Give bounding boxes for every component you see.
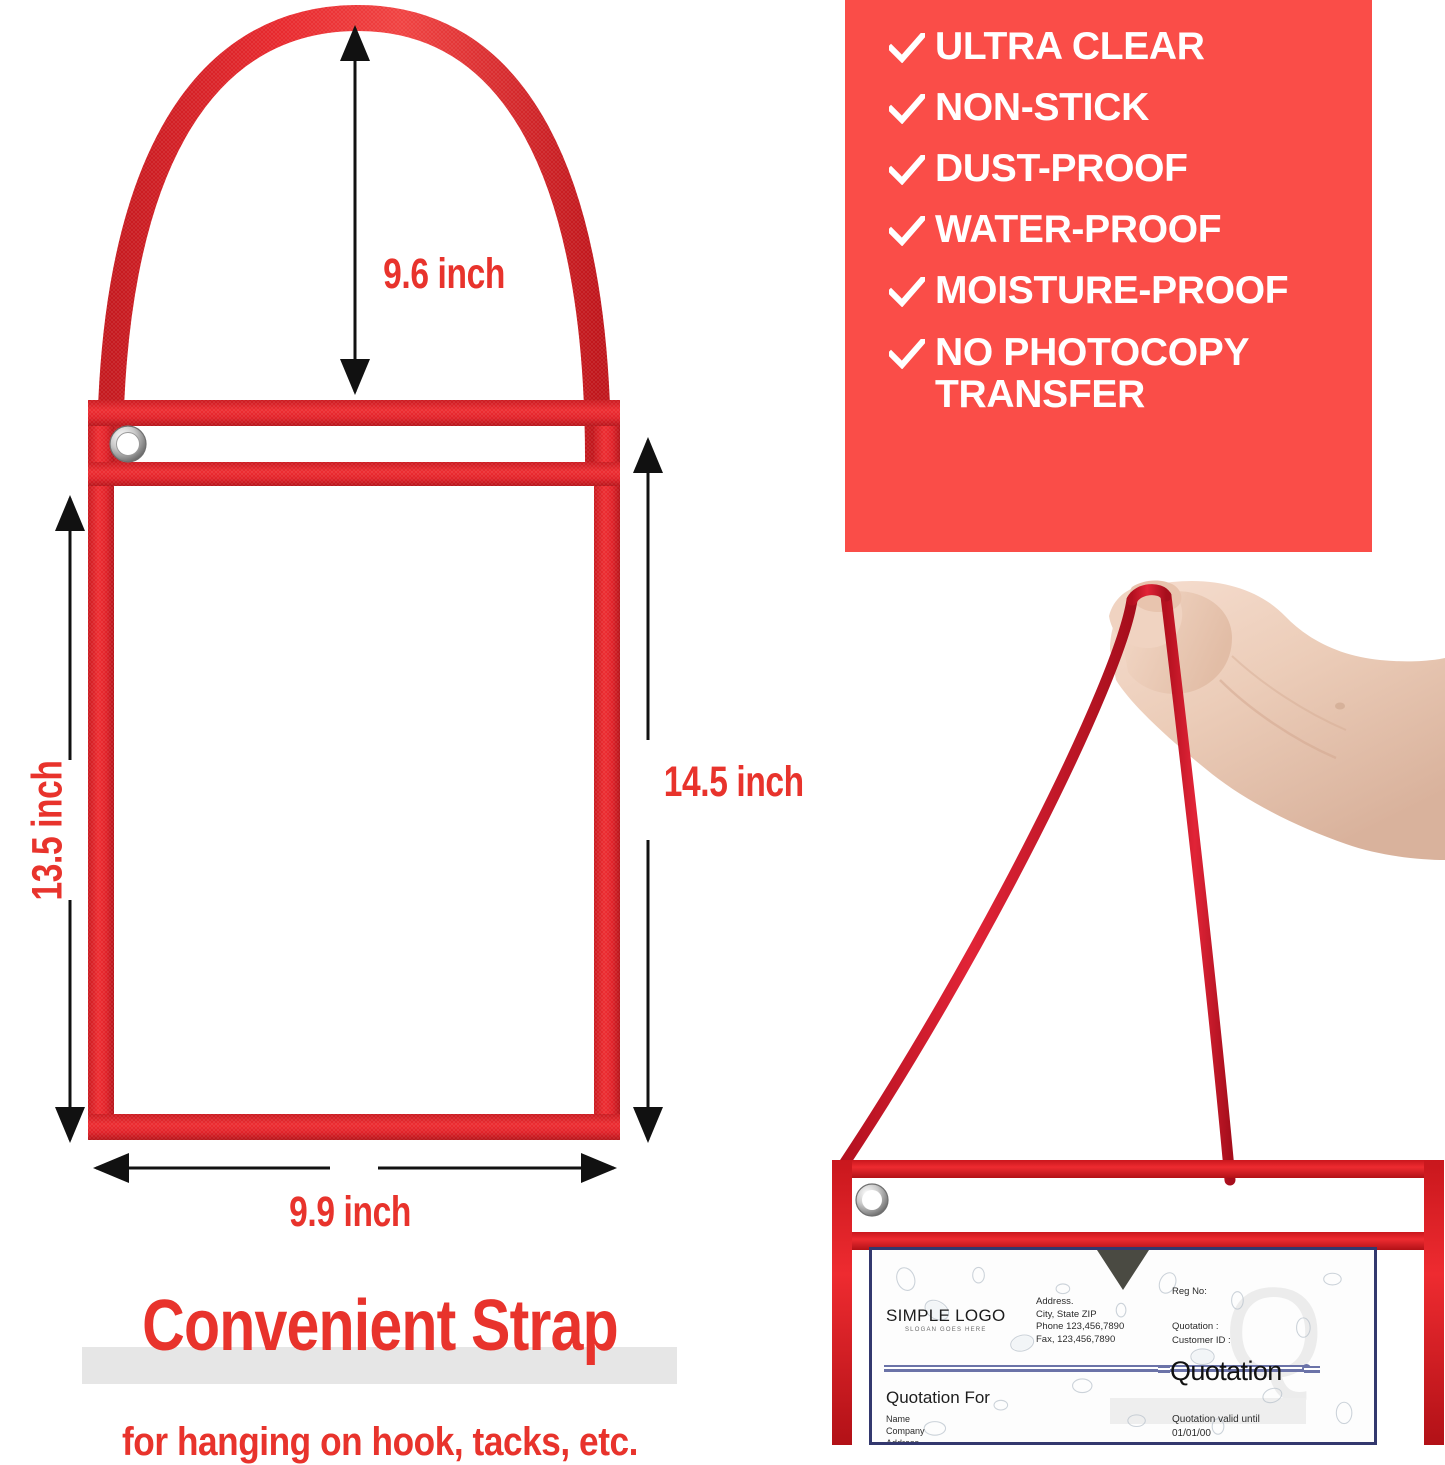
doc-logo-sub: SLOGAN GOES HERE [886, 1327, 1006, 1333]
doc-triangle [1097, 1250, 1149, 1290]
check-icon [889, 270, 935, 307]
hanging-strap [840, 590, 1230, 1180]
feature-label: MOISTURE-PROOF [935, 270, 1288, 312]
feature-item: MOISTURE-PROOF [889, 270, 1354, 312]
doc-fields: Name Company Address City, State ZIP Pho… [886, 1413, 943, 1445]
doc-logo-main: SIMPLE LOGO [886, 1306, 1006, 1326]
doc-reg-no: Reg No: [1172, 1286, 1207, 1297]
doc-validity: Quotation valid until 01/01/00 Prepared … [1172, 1413, 1260, 1445]
feature-item: DUST-PROOF [889, 148, 1354, 190]
feature-label: NO PHOTOCOPY TRANSFER [935, 332, 1249, 416]
grommet-icon [110, 426, 146, 462]
doc-address: Address. City, State ZIP Phone 123,456,7… [1036, 1296, 1124, 1346]
doc-title-bar-right [1304, 1366, 1320, 1373]
product-diagram: 9.6 inch 14.5 inch 13.5 inch 9.9 inch [0, 0, 845, 1200]
feature-label: DUST-PROOF [935, 148, 1188, 190]
dimension-label-pocket-height: 13.5 inch [23, 760, 72, 900]
pocket-frame [88, 400, 620, 1140]
check-icon [889, 26, 935, 63]
grommet-icon [856, 1184, 888, 1216]
feature-item: ULTRA CLEAR [889, 26, 1354, 68]
quotation-document: Q [869, 1247, 1377, 1445]
doc-quotation-for-heading: Quotation For [886, 1388, 990, 1408]
feature-item: WATER-PROOF [889, 209, 1354, 251]
feature-label: ULTRA CLEAR [935, 26, 1205, 68]
check-icon [889, 87, 935, 124]
doc-title: Quotation [1170, 1356, 1282, 1387]
check-icon [889, 148, 935, 185]
doc-title-bar-left [1158, 1366, 1170, 1373]
feature-label: NON-STICK [935, 87, 1149, 129]
doc-quotation-meta: Quotation : Customer ID : [1172, 1320, 1231, 1348]
headline-subtitle: for hanging on hook, tacks, etc. [46, 1420, 715, 1465]
check-icon [889, 332, 935, 369]
feature-panel: ULTRA CLEAR NON-STICK DUST-PROOF WATER-P… [845, 0, 1372, 552]
headline-block: Convenient Strap for hanging on hook, ta… [0, 1290, 760, 1362]
dimension-label-width: 9.9 inch [289, 1188, 411, 1237]
feature-item: NON-STICK [889, 87, 1354, 129]
doc-logo: SIMPLE LOGO SLOGAN GOES HERE [886, 1306, 1006, 1333]
headline-title: Convenient Strap [68, 1290, 691, 1362]
feature-item: NO PHOTOCOPY TRANSFER [889, 332, 1354, 416]
check-icon [889, 209, 935, 246]
feature-label: WATER-PROOF [935, 209, 1221, 251]
infographic-canvas: 9.6 inch 14.5 inch 13.5 inch 9.9 inch Co… [0, 0, 1445, 1445]
dimension-label-strap-height: 9.6 inch [383, 250, 505, 299]
hand-photo [1109, 580, 1445, 860]
